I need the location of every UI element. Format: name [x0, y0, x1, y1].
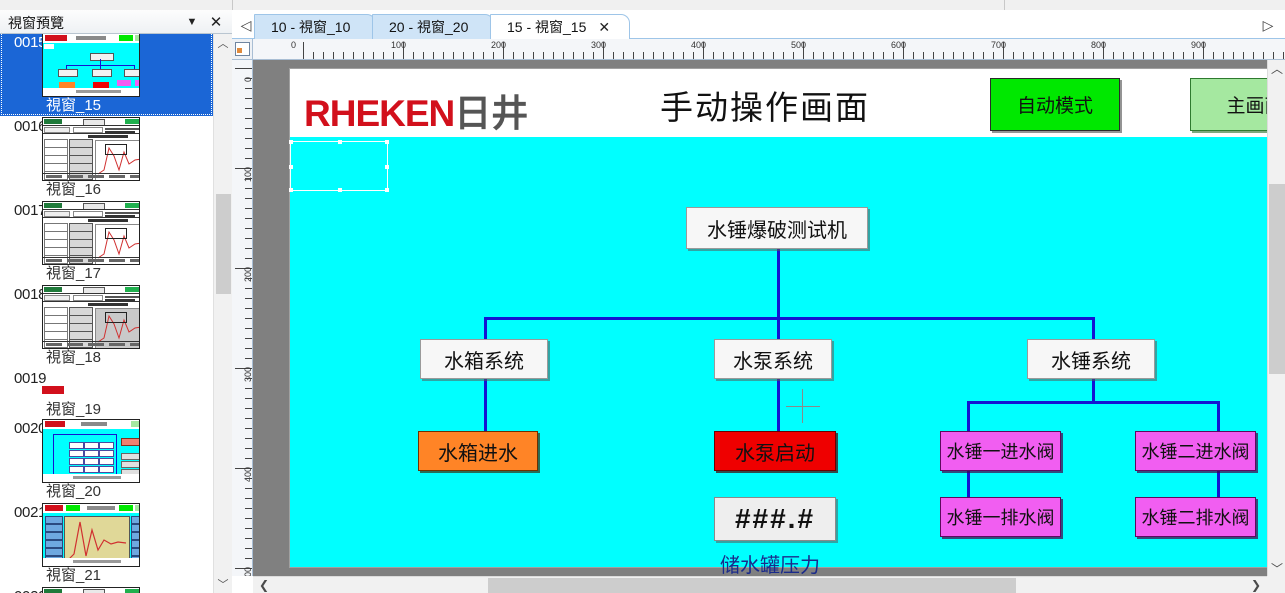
tab-window-20[interactable]: 20 - 視窗_20: [372, 14, 494, 39]
main-screen-button[interactable]: 主画面: [1190, 78, 1267, 131]
thumbnail-list[interactable]: 0015視窗_150016視窗_160017視窗_170018視窗_180019…: [0, 34, 213, 593]
chevron-up-icon[interactable]: ︿: [1268, 60, 1285, 76]
selection-marquee[interactable]: [290, 141, 388, 191]
connector-tank-down: [484, 375, 487, 437]
thumbnail-item[interactable]: 0018視窗_18: [0, 284, 213, 368]
button-hammer1-drain-valve[interactable]: 水锤一排水阀: [940, 497, 1061, 537]
tab-label: 15 - 視窗_15: [507, 17, 586, 37]
chevron-left-icon[interactable]: ❮: [253, 577, 275, 593]
button-label: 水锤二进水阀: [1142, 438, 1250, 464]
tab-window-15[interactable]: 15 - 視窗_15 ✕: [490, 14, 630, 39]
connector-hammer-down: [1092, 375, 1095, 403]
thumbnail-image[interactable]: [42, 34, 140, 97]
close-icon[interactable]: ✕: [206, 12, 226, 32]
chevron-down-icon[interactable]: ▼: [182, 12, 202, 32]
pressure-readout-caption: 储水罐压力: [720, 549, 820, 576]
window-preview-panel: 視窗預覽 ▼ ✕ 0015視窗_150016視窗_160017視窗_170018…: [0, 10, 232, 593]
panel-scrollbar[interactable]: ︿ ﹀: [213, 34, 232, 593]
thumbnail-item[interactable]: 0019視窗_19: [0, 368, 213, 418]
connector-pump-down: [777, 375, 780, 437]
vertical-ruler: 0100200300400500: [232, 60, 253, 576]
chevron-down-icon[interactable]: ﹀: [1268, 560, 1285, 576]
thumbnail-image[interactable]: [42, 419, 140, 483]
button-label: 水箱进水: [438, 437, 518, 466]
thumbnail-image[interactable]: [42, 117, 140, 181]
node-root[interactable]: 水锤爆破测试机: [686, 207, 868, 249]
thumbnail-item[interactable]: 0021視窗_21: [0, 502, 213, 586]
thumbnail-image[interactable]: [42, 503, 140, 567]
thumbnail-item[interactable]: 0017視窗_17: [0, 200, 213, 284]
logo-suffix: 日井: [454, 93, 528, 134]
button-label: 水锤一进水阀: [947, 438, 1055, 464]
tab-label: 10 - 視窗_10: [271, 17, 350, 37]
thumbnail-image[interactable]: [42, 587, 140, 593]
scrollbar-thumb[interactable]: [488, 578, 1016, 593]
thumbnail-item[interactable]: 0015視窗_15: [0, 34, 213, 116]
node-label: 水箱系统: [444, 345, 524, 374]
pressure-readout-value[interactable]: ###.#: [714, 497, 836, 541]
button-hammer2-inlet-valve[interactable]: 水锤二进水阀: [1135, 431, 1256, 471]
thumbnail-label: 視窗_15: [46, 94, 101, 115]
scrollbar-thumb[interactable]: [216, 194, 231, 294]
auto-mode-label: 自动模式: [1017, 91, 1093, 118]
tab-label: 20 - 視窗_20: [389, 17, 468, 37]
node-label: 水锤系统: [1051, 345, 1131, 374]
triangle-right-icon[interactable]: ▷: [1257, 14, 1279, 36]
node-water-tank-system[interactable]: 水箱系统: [420, 339, 548, 379]
thumbnail-item[interactable]: 0016視窗_16: [0, 116, 213, 200]
logo-text: RHEKEN: [304, 93, 454, 134]
thumbnail-label: 視窗_19: [46, 398, 101, 419]
node-label: 水泵系统: [733, 345, 813, 374]
button-hammer1-inlet-valve[interactable]: 水锤一进水阀: [940, 431, 1061, 471]
scroll-down-icon[interactable]: ﹀: [214, 575, 232, 593]
scroll-up-icon[interactable]: ︿: [214, 34, 232, 52]
node-water-pump-system[interactable]: 水泵系统: [714, 339, 832, 379]
screen-header-band: RHEKEN日井 手动操作画面 自动模式 主画面: [290, 69, 1267, 139]
close-icon[interactable]: ✕: [598, 19, 610, 36]
main-screen-label: 主画面: [1226, 91, 1267, 118]
thumbnail-item[interactable]: 0020視窗_20: [0, 418, 213, 502]
rheken-logo: RHEKEN日井: [304, 83, 528, 137]
thumbnail-label: 視窗_18: [46, 346, 101, 367]
application-window: 視窗預覽 ▼ ✕ 0015視窗_150016視窗_160017視窗_170018…: [0, 0, 1285, 593]
scrollbar-thumb[interactable]: [1269, 184, 1285, 374]
canvas-viewport[interactable]: RHEKEN日井 手动操作画面 自动模式 主画面: [253, 60, 1267, 576]
chevron-right-icon[interactable]: ❯: [1245, 577, 1267, 593]
readout-text: ###.#: [735, 503, 815, 535]
canvas-horizontal-scrollbar[interactable]: ❮ ❯: [253, 576, 1267, 593]
node-label: 水锤爆破测试机: [707, 214, 847, 243]
canvas-vertical-scrollbar[interactable]: ︿ ﹀: [1267, 60, 1285, 576]
auto-mode-button[interactable]: 自动模式: [990, 78, 1120, 131]
horizontal-ruler: 0100200300400500600700800900: [253, 39, 1285, 60]
editor-area: ◁ ▷ 10 - 視窗_10 20 - 視窗_20 15 - 視窗_15 ✕ 0…: [232, 10, 1285, 593]
thumbnail-number: 0019: [14, 370, 46, 387]
button-tank-inlet[interactable]: 水箱进水: [418, 431, 538, 471]
button-pump-start[interactable]: 水泵启动: [714, 431, 836, 471]
connector-hammer-bus: [967, 401, 1220, 404]
screen-design-page[interactable]: RHEKEN日井 手动操作画面 自动模式 主画面: [289, 68, 1267, 568]
button-label: 水锤二排水阀: [1142, 504, 1250, 530]
tab-bar: ◁ ▷ 10 - 視窗_10 20 - 視窗_20 15 - 視窗_15 ✕: [232, 10, 1285, 39]
thumbnail-label: 視窗_21: [46, 564, 101, 585]
connector-guide-horizontal: [786, 406, 820, 407]
node-water-hammer-system[interactable]: 水锤系统: [1027, 339, 1155, 379]
connector-root-down: [777, 243, 780, 320]
ruler-origin-icon[interactable]: [232, 39, 253, 60]
screen-title: 手动操作画面: [660, 81, 870, 129]
connector-bus: [484, 317, 1095, 320]
scrollbar-corner: [1267, 576, 1285, 593]
panel-header: 視窗預覽 ▼ ✕: [0, 10, 232, 34]
thumbnail-label: 視窗_17: [46, 262, 101, 283]
panel-title: 視窗預覽: [8, 13, 64, 33]
button-label: 水锤一排水阀: [947, 504, 1055, 530]
thumbnail-image[interactable]: [42, 285, 140, 349]
thumbnail-image[interactable]: [42, 201, 140, 265]
button-hammer2-drain-valve[interactable]: 水锤二排水阀: [1135, 497, 1256, 537]
button-label: 水泵启动: [735, 437, 815, 466]
thumbnail-label: 視窗_20: [46, 480, 101, 501]
thumbnail-image[interactable]: [42, 386, 64, 394]
thumbnail-label: 視窗_16: [46, 178, 101, 199]
thumbnail-item[interactable]: 0022: [0, 586, 213, 593]
tab-window-10[interactable]: 10 - 視窗_10: [254, 14, 376, 39]
